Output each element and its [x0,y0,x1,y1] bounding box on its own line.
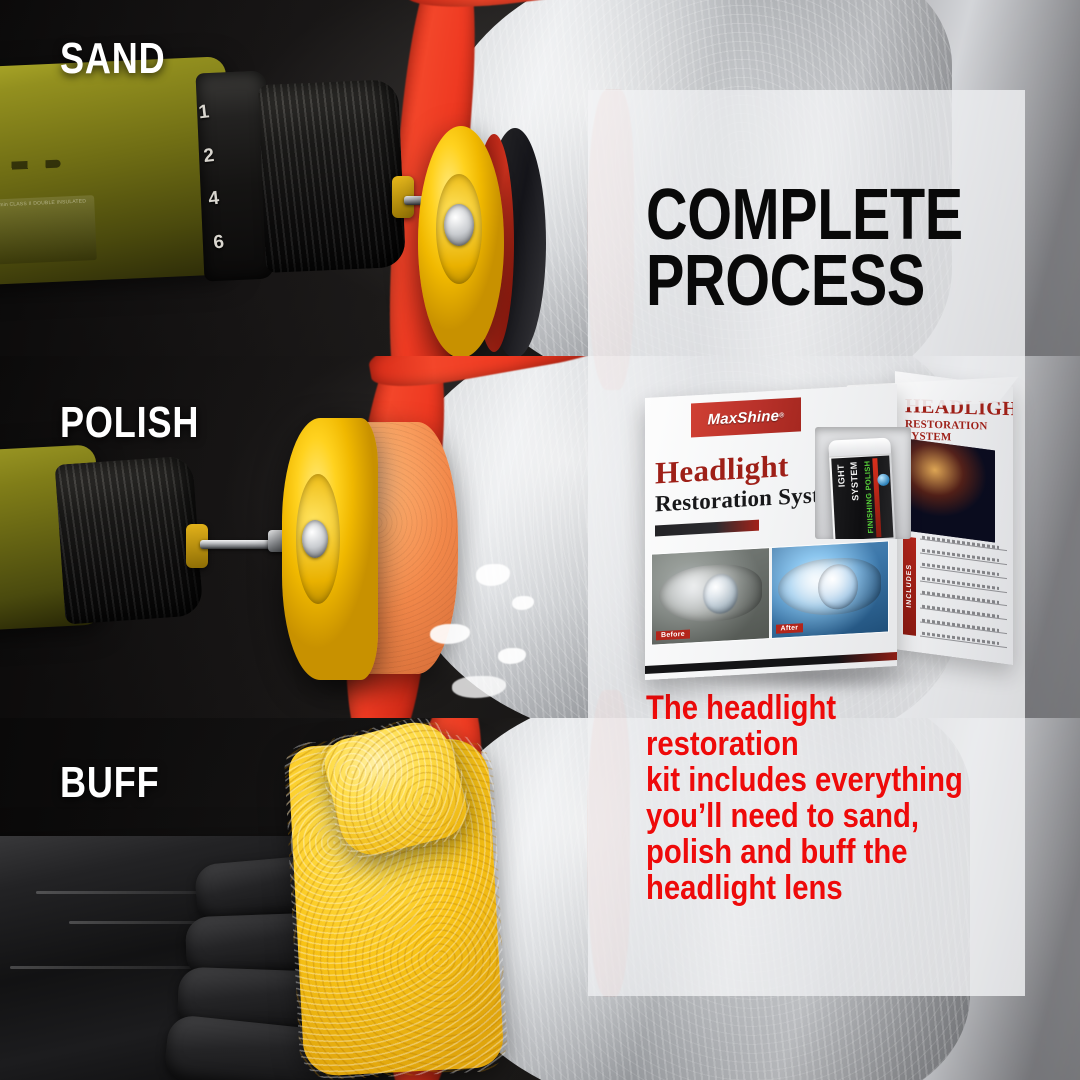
polish-plate-nut [302,520,328,558]
before-photo: Before [652,548,769,645]
drill-chuck-polish [55,455,204,624]
microfiber-towel-fold [319,718,472,862]
sanding-pad-nut [444,204,474,246]
after-photo: After [772,541,889,638]
finishing-polish-bottle: IGHT SYSTEM FINISHING POLISH [828,437,895,539]
product-box-side-panel: HEADLIGHT RESTORATION SYSTEM INCLUDES [895,371,1013,665]
registered-mark-icon: ® [779,412,784,419]
bottle-cap [828,437,891,457]
includes-line [920,580,1007,593]
before-label: Before [656,630,690,641]
bottle-label: IGHT SYSTEM FINISHING POLISH [831,456,893,539]
box-die-cut-window: IGHT SYSTEM FINISHING POLISH [815,427,911,539]
pad-arbor-shaft-polish [200,540,274,549]
brand-logo: MaxShine® [691,397,801,437]
torque-number: 6 [212,230,236,254]
box-includes-block: INCLUDES [903,536,1007,648]
torque-number: 2 [202,143,226,167]
step-label-polish: POLISH [60,398,199,448]
includes-line [920,608,1007,621]
includes-line [920,622,1007,635]
drill-chuck-sand [258,79,406,273]
bottle-label-badge-icon [877,474,890,487]
drill-vents [0,159,61,174]
brand-band: MaxShine® [691,397,801,437]
drill-torque-numbers: 1 2 4 6 [196,89,238,265]
box-front-footer-bar [645,652,897,674]
before-after-photo-strip: Before After [651,540,889,645]
includes-item-lines [920,538,1007,648]
drill-spec-label: ⚠ 18V Li-ION 3/8 in. 0-450/min 0-1650/mi… [0,195,97,269]
includes-line [920,566,1007,579]
after-label: After [776,623,804,634]
step-label-sand: SAND [60,34,166,84]
includes-line [920,635,1007,648]
bottle-label-line-1: IGHT [836,464,847,488]
includes-tab: INCLUDES [903,536,916,636]
page-title: COMPLETE PROCESS [646,182,963,314]
marketing-image-canvas: ⚠ 18V Li-ION 3/8 in. 0-450/min 0-1650/mi… [0,0,1080,1080]
torque-number: 1 [197,99,221,123]
product-box: HEADLIGHT RESTORATION SYSTEM INCLUDES [645,383,1017,679]
product-description: The headlight restoration kit includes e… [646,690,973,906]
includes-line [920,594,1007,607]
torque-number: 4 [207,186,231,210]
box-side-photo [909,439,995,542]
brand-logo-text: MaxShine [708,407,780,428]
includes-line [920,552,1007,565]
step-label-buff: BUFF [60,758,159,808]
box-front-accent-bar [655,520,759,537]
bottle-label-line-2: SYSTEM [848,461,860,501]
includes-tab-label: INCLUDES [906,564,913,609]
